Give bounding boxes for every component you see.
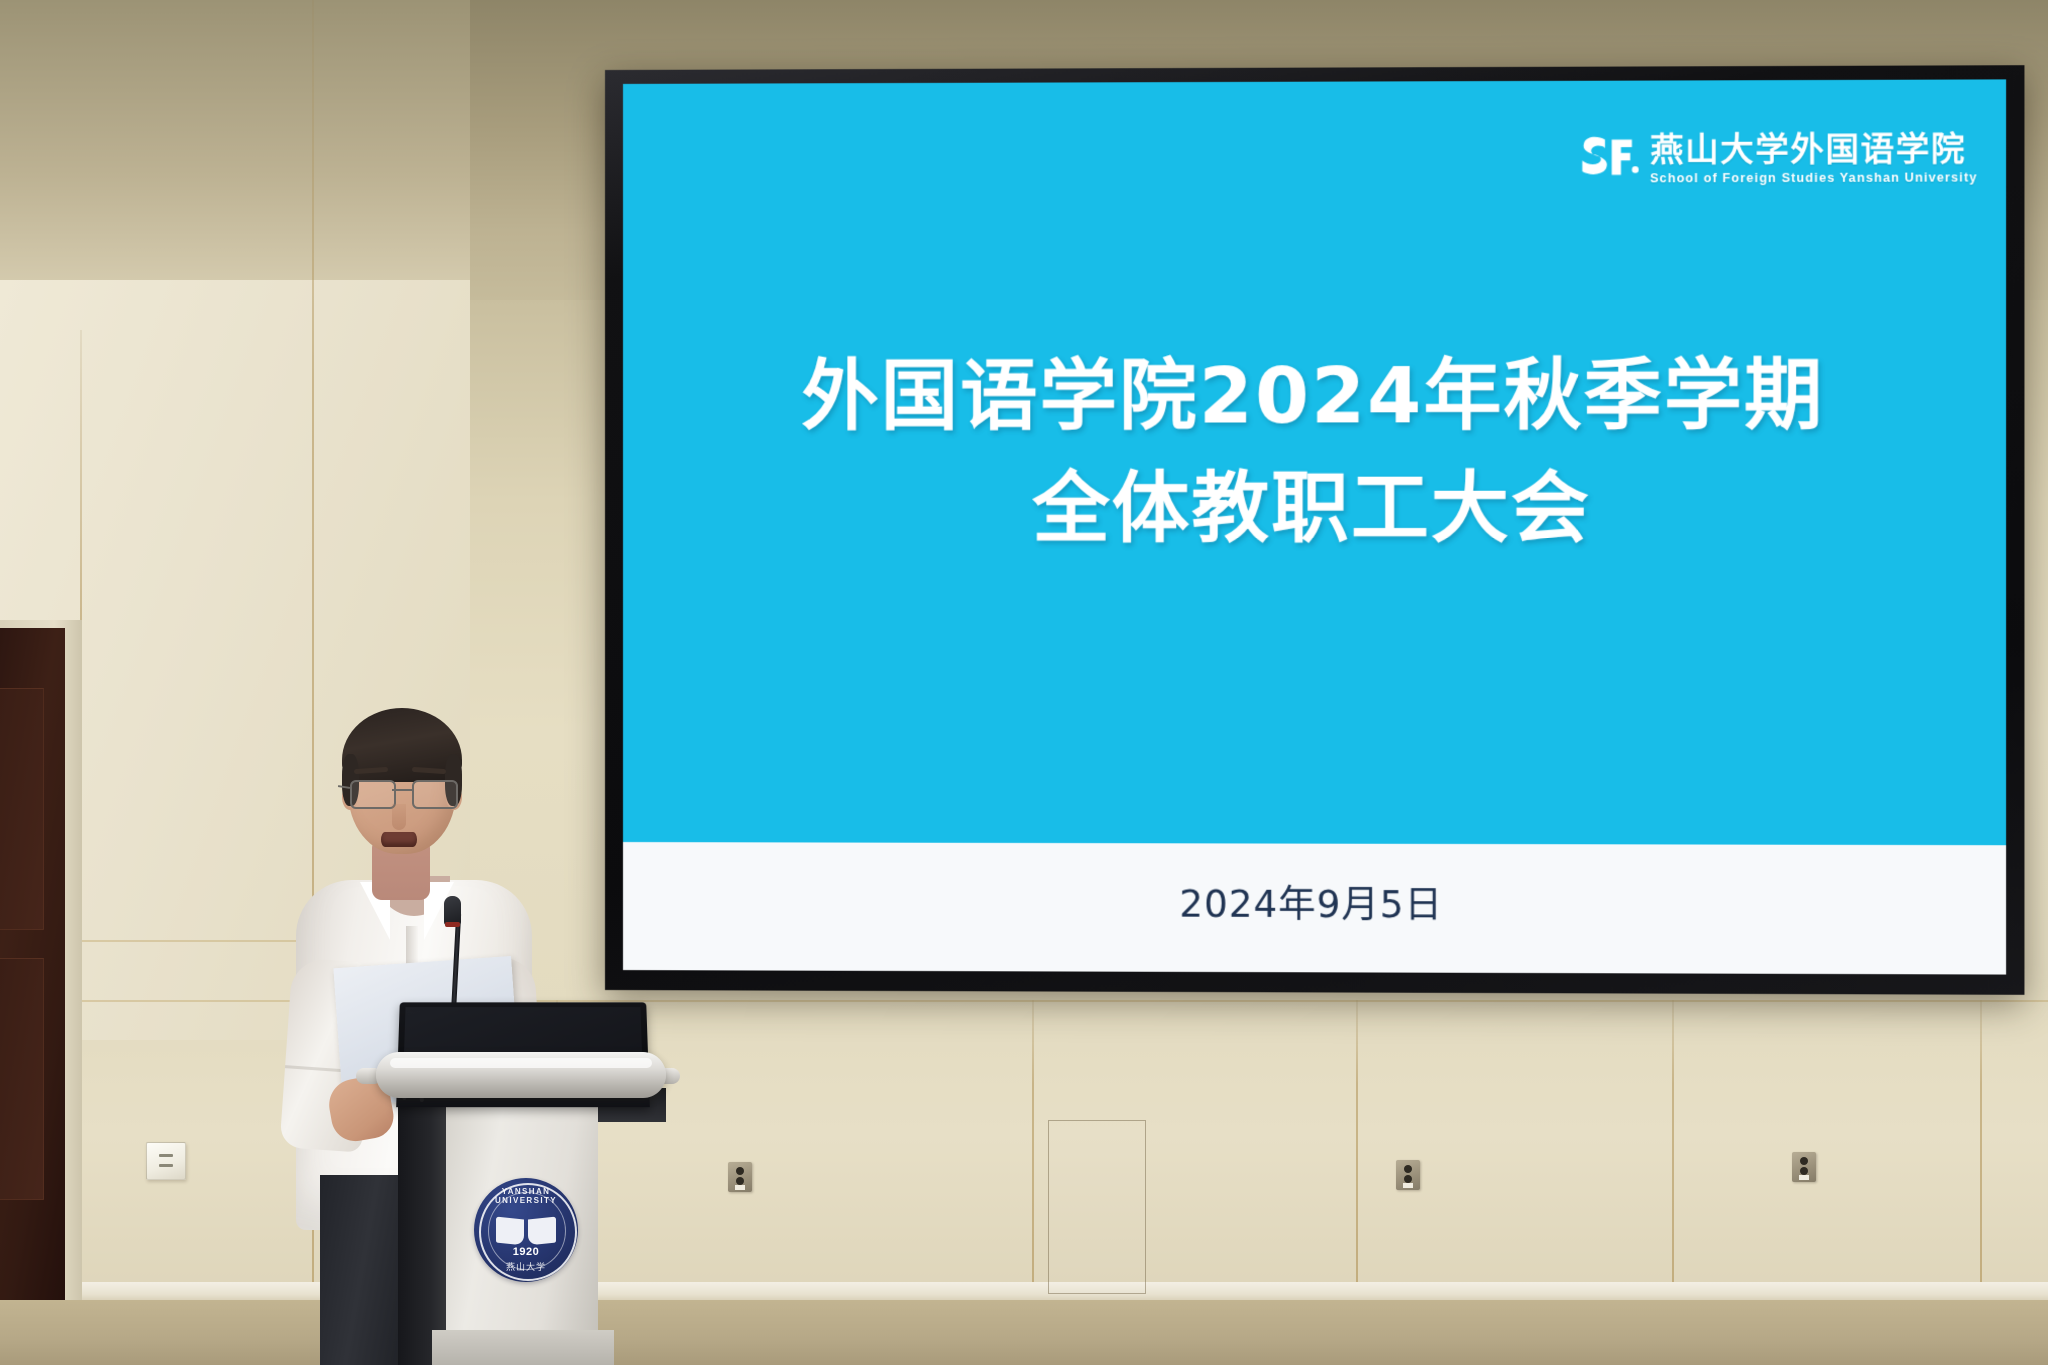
seal-open-book-icon <box>496 1218 556 1244</box>
lectern-side-panel <box>398 1100 452 1365</box>
lectern-rail-highlight <box>390 1058 652 1068</box>
slide-title-line-2: 全体教职工大会 <box>623 454 2006 568</box>
wall-seam <box>1356 1000 1358 1282</box>
lectern-base <box>432 1330 614 1365</box>
wall-access-panel <box>1048 1120 1146 1294</box>
wall-seam <box>1032 1000 1034 1282</box>
seal-year: 1920 <box>474 1246 578 1258</box>
power-outlet-icon <box>1792 1152 1816 1182</box>
sf-monogram-icon <box>1580 134 1639 181</box>
eyeglass-bridge <box>392 789 412 791</box>
baseboard <box>0 1282 2048 1302</box>
seal-english-text: YANSHAN UNIVERSITY <box>474 1187 578 1205</box>
eyeglass-lens-right <box>412 780 458 809</box>
seal-chinese-text: 燕山大学 <box>474 1260 578 1273</box>
slide-canvas: 燕山大学外国语学院 School of Foreign Studies Yans… <box>623 79 2006 974</box>
school-logo-english: School of Foreign Studies Yanshan Univer… <box>1650 170 1978 184</box>
school-logo-chinese: 燕山大学外国语学院 <box>1650 132 1978 166</box>
speaker-nose <box>392 804 406 830</box>
floor <box>0 1300 2048 1365</box>
eyeglass-lens-left <box>350 780 396 809</box>
wall-seam <box>1980 1000 1982 1282</box>
power-outlet-icon <box>728 1162 752 1192</box>
speaker-mouth <box>381 832 417 847</box>
room-door[interactable] <box>0 628 65 1300</box>
wall-left-upper <box>0 0 470 320</box>
lectern-top-rail <box>376 1052 666 1098</box>
power-outlet-icon <box>1396 1160 1420 1190</box>
school-logo: 燕山大学外国语学院 School of Foreign Studies Yans… <box>1580 132 1978 184</box>
university-seal: YANSHAN UNIVERSITY 1920 燕山大学 <box>474 1178 578 1282</box>
microphone-indicator <box>445 922 460 927</box>
door-panel <box>0 958 44 1200</box>
slide-title-line-1: 外国语学院2024年秋季学期 <box>623 340 2006 454</box>
wall-seam <box>1672 1000 1674 1282</box>
display-panel: 燕山大学外国语学院 School of Foreign Studies Yans… <box>623 79 2006 974</box>
slide-title-block: 外国语学院2024年秋季学期 全体教职工大会 <box>623 340 2006 567</box>
presentation-photo-scene: 燕山大学外国语学院 School of Foreign Studies Yans… <box>0 0 2048 1365</box>
presentation-display[interactable]: 燕山大学外国语学院 School of Foreign Studies Yans… <box>605 65 2024 995</box>
power-outlet-icon <box>146 1142 186 1180</box>
slide-date: 2024年9月5日 <box>623 872 2006 930</box>
speaker-eyeglasses <box>344 780 462 806</box>
door-panel <box>0 688 44 930</box>
